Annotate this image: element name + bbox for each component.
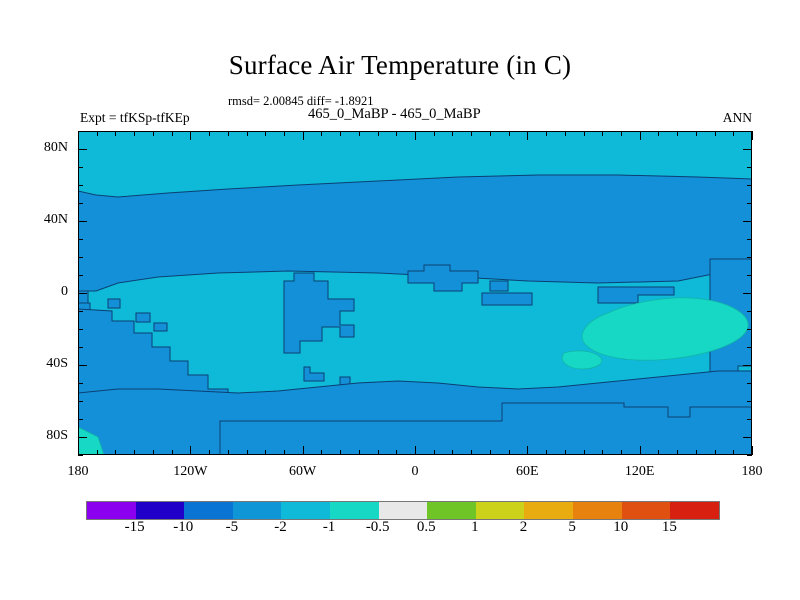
colorbar-segment[interactable] <box>670 502 719 519</box>
axis-tick <box>584 450 585 455</box>
x-axis-label: 180 <box>717 464 787 480</box>
axis-tick <box>153 131 154 136</box>
colorbar-tick-label: 5 <box>545 519 599 536</box>
colorbar-segment[interactable] <box>427 502 476 519</box>
colorbar-segment[interactable] <box>87 502 136 519</box>
axis-tick <box>190 131 191 140</box>
y-axis-label: 80S <box>22 428 68 444</box>
colorbar-segment[interactable] <box>622 502 671 519</box>
colorbar-tick-label: -10 <box>156 519 210 536</box>
colorbar-tick-label: -5 <box>205 519 259 536</box>
axis-tick <box>340 450 341 455</box>
x-axis-label: 120E <box>605 464 675 480</box>
axis-tick <box>284 131 285 136</box>
axis-tick <box>434 131 435 136</box>
axis-tick <box>78 383 83 384</box>
axis-tick <box>415 446 416 455</box>
axis-tick <box>747 275 752 276</box>
colorbar-segment[interactable] <box>281 502 330 519</box>
x-axis-label: 60W <box>268 464 338 480</box>
axis-tick <box>78 203 83 204</box>
x-axis-label: 0 <box>380 464 450 480</box>
axis-tick <box>621 450 622 455</box>
colorbar-tick-labels: -15-10-5-2-1-0.50.51251015 <box>0 519 800 543</box>
axis-tick <box>452 450 453 455</box>
axis-tick <box>452 131 453 136</box>
season-annotation: ANN <box>723 110 752 126</box>
axis-tick <box>471 450 472 455</box>
axis-tick <box>284 450 285 455</box>
axis-tick <box>78 347 83 348</box>
axis-tick <box>743 221 752 222</box>
axis-tick <box>747 419 752 420</box>
colorbar[interactable] <box>86 501 720 520</box>
axis-tick <box>359 131 360 136</box>
axis-tick <box>78 401 83 402</box>
axis-tick <box>747 401 752 402</box>
axis-tick <box>321 450 322 455</box>
axis-tick <box>747 203 752 204</box>
axis-tick <box>696 131 697 136</box>
axis-tick <box>415 131 416 140</box>
colorbar-tick-label: -1 <box>302 519 356 536</box>
axis-tick <box>546 450 547 455</box>
axis-tick <box>747 329 752 330</box>
colorbar-segment[interactable] <box>379 502 428 519</box>
axis-tick <box>78 185 83 186</box>
axis-tick <box>78 275 83 276</box>
colorbar-segment[interactable] <box>524 502 573 519</box>
axis-tick <box>490 131 491 136</box>
colorbar-tick-label: 1 <box>448 519 502 536</box>
colorbar-tick-label: -15 <box>108 519 162 536</box>
axis-tick <box>378 131 379 136</box>
axis-tick <box>78 239 83 240</box>
axis-tick <box>509 450 510 455</box>
x-axis-label: 60E <box>492 464 562 480</box>
axis-tick <box>265 131 266 136</box>
map-plot-area <box>78 131 752 455</box>
axis-tick <box>396 131 397 136</box>
axis-tick <box>78 167 83 168</box>
axis-tick <box>733 131 734 136</box>
axis-tick <box>209 131 210 136</box>
axis-tick <box>743 365 752 366</box>
axis-tick <box>153 450 154 455</box>
axis-tick <box>602 450 603 455</box>
axis-tick <box>321 131 322 136</box>
axis-tick <box>134 450 135 455</box>
axis-tick <box>743 293 752 294</box>
axis-tick <box>527 446 528 455</box>
axis-tick <box>247 131 248 136</box>
axis-tick <box>747 257 752 258</box>
axis-tick <box>696 450 697 455</box>
colorbar-segment[interactable] <box>330 502 379 519</box>
axis-tick <box>752 446 753 455</box>
axis-tick <box>747 347 752 348</box>
axis-tick <box>265 450 266 455</box>
colorbar-segment[interactable] <box>476 502 525 519</box>
axis-tick <box>747 167 752 168</box>
axis-tick <box>743 437 752 438</box>
axis-tick <box>602 131 603 136</box>
axis-tick <box>434 450 435 455</box>
axis-tick <box>640 131 641 140</box>
colorbar-segment[interactable] <box>184 502 233 519</box>
case-annotation: 465_0_MaBP - 465_0_MaBP <box>308 106 481 123</box>
page-title: Surface Air Temperature (in C) <box>0 50 800 81</box>
axis-tick <box>378 450 379 455</box>
axis-tick <box>303 131 304 140</box>
axis-tick <box>733 450 734 455</box>
y-axis-label: 0 <box>22 284 68 300</box>
axis-tick <box>78 131 79 140</box>
y-axis-label: 80N <box>22 140 68 156</box>
colorbar-segment[interactable] <box>136 502 185 519</box>
axis-tick <box>78 437 87 438</box>
colorbar-tick-label: 0.5 <box>399 519 453 536</box>
axis-tick <box>752 131 753 140</box>
axis-tick <box>228 131 229 136</box>
figure-canvas: Surface Air Temperature (in C) rmsd= 2.0… <box>0 0 800 600</box>
axis-tick <box>490 450 491 455</box>
axis-tick <box>715 131 716 136</box>
colorbar-tick-label: 15 <box>642 519 696 536</box>
axis-tick <box>78 293 87 294</box>
axis-tick <box>509 131 510 136</box>
axis-tick <box>78 257 83 258</box>
colorbar-tick-label: -0.5 <box>351 519 405 536</box>
axis-tick <box>640 446 641 455</box>
axis-tick <box>78 131 83 132</box>
y-axis-label: 40N <box>22 212 68 228</box>
axis-tick <box>247 450 248 455</box>
axis-tick <box>78 419 83 420</box>
axis-tick <box>546 131 547 136</box>
experiment-annotation: Expt = tfKSp-tfKEp <box>80 110 190 126</box>
axis-tick <box>172 131 173 136</box>
axis-tick <box>471 131 472 136</box>
axis-tick <box>743 149 752 150</box>
axis-tick <box>340 131 341 136</box>
axis-tick <box>78 365 87 366</box>
colorbar-segment[interactable] <box>573 502 622 519</box>
axis-tick <box>78 149 87 150</box>
axis-tick <box>584 131 585 136</box>
axis-tick <box>747 383 752 384</box>
axis-tick <box>747 311 752 312</box>
axis-tick <box>115 450 116 455</box>
colorbar-tick-label: 10 <box>594 519 648 536</box>
axis-tick <box>527 131 528 140</box>
axis-tick <box>209 450 210 455</box>
x-axis-label: 120W <box>155 464 225 480</box>
axis-tick <box>78 446 79 455</box>
axis-tick <box>359 450 360 455</box>
axis-tick <box>303 446 304 455</box>
axis-tick <box>78 455 83 456</box>
x-axis-label: 180 <box>43 464 113 480</box>
colorbar-tick-label: 2 <box>497 519 551 536</box>
axis-tick <box>677 450 678 455</box>
colorbar-tick-label: -2 <box>253 519 307 536</box>
axis-tick <box>396 450 397 455</box>
axis-tick <box>78 311 83 312</box>
axis-tick <box>621 131 622 136</box>
axis-tick <box>747 239 752 240</box>
axis-tick <box>97 450 98 455</box>
axis-tick <box>715 450 716 455</box>
axis-tick <box>190 446 191 455</box>
axis-tick <box>172 450 173 455</box>
axis-tick <box>97 131 98 136</box>
axis-tick <box>658 131 659 136</box>
axis-tick <box>747 131 752 132</box>
axis-tick <box>228 450 229 455</box>
colorbar-segment[interactable] <box>233 502 282 519</box>
axis-tick <box>115 131 116 136</box>
axis-tick <box>565 131 566 136</box>
axis-tick <box>658 450 659 455</box>
y-axis-label: 40S <box>22 356 68 372</box>
axis-tick <box>78 221 87 222</box>
axis-tick <box>78 329 83 330</box>
axis-tick <box>747 455 752 456</box>
axis-tick <box>747 185 752 186</box>
contour-map <box>78 131 752 455</box>
axis-tick <box>677 131 678 136</box>
axis-tick <box>134 131 135 136</box>
axis-tick <box>565 450 566 455</box>
